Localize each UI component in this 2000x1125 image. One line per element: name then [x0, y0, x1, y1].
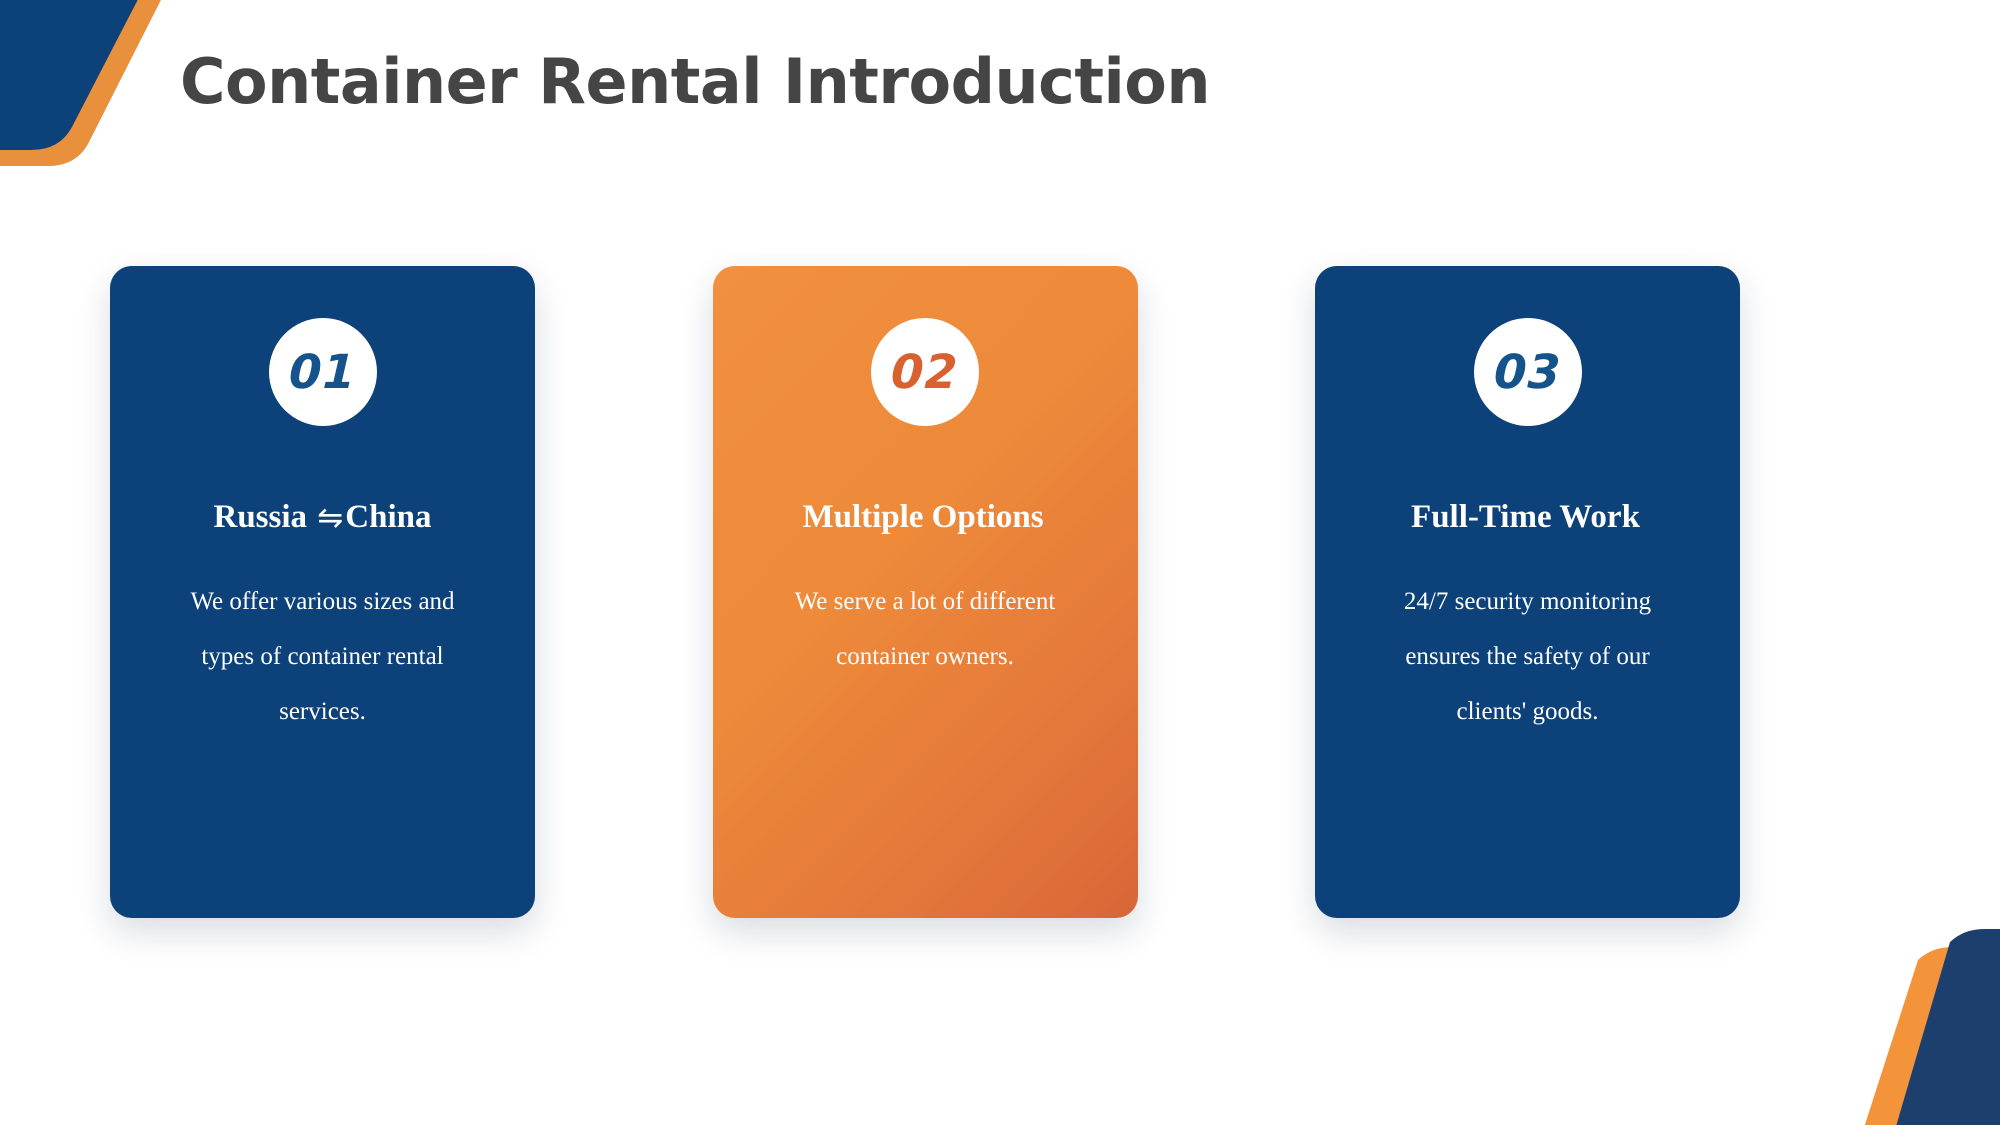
card-title: Multiple Options — [802, 498, 1047, 538]
card-body-text: 24/7 security monitoring ensures the saf… — [1373, 574, 1683, 739]
card-body-text: We offer various sizes and types of cont… — [168, 574, 478, 739]
card-number-label: 03 — [1493, 349, 1562, 396]
card-number-label: 01 — [288, 349, 357, 396]
card-title-prefix: Multiple Options — [802, 499, 1043, 535]
top-left-blue-shape — [0, 0, 148, 150]
feature-card-01[interactable]: 01 Russia ⇋China We offer various sizes … — [110, 266, 535, 918]
bidirectional-arrow-icon: ⇋ — [315, 500, 345, 536]
number-badge-icon: 01 — [269, 318, 377, 426]
card-title: Full-Time Work — [1411, 498, 1644, 538]
number-badge-icon: 02 — [871, 318, 979, 426]
card-body-text: We serve a lot of different container ow… — [770, 574, 1080, 684]
bottom-right-decoration — [1800, 925, 2000, 1125]
feature-cards-row: 01 Russia ⇋China We offer various sizes … — [110, 266, 1740, 918]
top-left-orange-shape — [0, 0, 166, 166]
feature-card-03[interactable]: 03 Full-Time Work 24/7 security monitori… — [1315, 266, 1740, 918]
card-title-prefix: Russia — [214, 499, 316, 535]
bottom-right-orange-shape — [1860, 947, 2000, 1125]
bidirectional-arrow-icon — [1640, 500, 1644, 536]
card-title-suffix: China — [345, 499, 431, 535]
bottom-right-decoration-svg — [1800, 925, 2000, 1125]
number-badge-icon: 03 — [1474, 318, 1582, 426]
card-title: Russia ⇋China — [214, 498, 432, 538]
card-title-prefix: Full-Time Work — [1411, 499, 1640, 535]
feature-card-02[interactable]: 02 Multiple Options We serve a lot of di… — [713, 266, 1138, 918]
card-number-label: 02 — [890, 349, 959, 396]
bottom-right-blue-shape — [1892, 929, 2000, 1125]
slide-canvas: Container Rental Introduction 01 Russia … — [0, 0, 2000, 1125]
bidirectional-arrow-icon — [1044, 500, 1048, 536]
page-title: Container Rental Introduction — [180, 46, 1210, 117]
